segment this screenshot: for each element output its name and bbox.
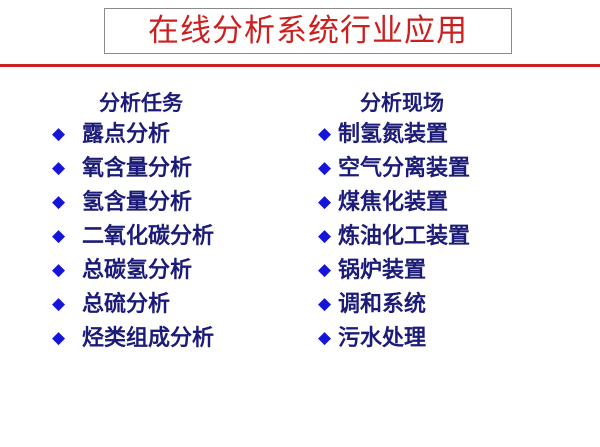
diamond-bullet-icon: ◆ [52,296,82,313]
list-item-label: 氢含量分析 [82,192,192,214]
list-item-label: 炼油化工装置 [338,226,470,248]
list-item-label: 空气分离装置 [338,158,470,180]
list-item[interactable]: ◆ 总碳氢分析 [52,254,302,288]
diamond-bullet-icon: ◆ [318,296,338,313]
diamond-bullet-icon: ◆ [52,194,82,211]
list-item[interactable]: ◆ 炼油化工装置 [318,220,578,254]
list-item-label: 污水处理 [338,328,426,350]
diamond-bullet-icon: ◆ [318,262,338,279]
diamond-bullet-icon: ◆ [318,194,338,211]
list-item[interactable]: ◆ 空气分离装置 [318,152,578,186]
list-item-label: 锅炉装置 [338,260,426,282]
list-item-label: 煤焦化装置 [338,192,448,214]
list-analysis-sites: ◆ 制氢氮装置 ◆ 空气分离装置 ◆ 煤焦化装置 ◆ 炼油化工装置 ◆ 锅炉 [318,118,578,356]
list-item-label: 二氧化碳分析 [82,226,214,248]
slide-canvas: 在线分析系统行业应用 分析任务 ◆ 露点分析 ◆ 氧含量分析 ◆ 氢含量分析 [0,0,600,447]
diamond-bullet-icon: ◆ [318,330,338,347]
diamond-bullet-icon: ◆ [318,228,338,245]
list-item[interactable]: ◆ 氧含量分析 [52,152,302,186]
list-analysis-tasks: ◆ 露点分析 ◆ 氧含量分析 ◆ 氢含量分析 ◆ 二氧化碳分析 ◆ 总碳氢分 [52,118,302,356]
column-analysis-sites: 分析现场 ◆ 制氢氮装置 ◆ 空气分离装置 ◆ 煤焦化装置 ◆ 炼油化工装置 [318,88,578,356]
list-item[interactable]: ◆ 总硫分析 [52,288,302,322]
diamond-bullet-icon: ◆ [318,160,338,177]
diamond-bullet-icon: ◆ [52,228,82,245]
list-item[interactable]: ◆ 烃类组成分析 [52,322,302,356]
list-item[interactable]: ◆ 污水处理 [318,322,578,356]
list-item-label: 制氢氮装置 [338,124,448,146]
column-header-right: 分析现场 [318,88,578,118]
diamond-bullet-icon: ◆ [52,160,82,177]
column-analysis-tasks: 分析任务 ◆ 露点分析 ◆ 氧含量分析 ◆ 氢含量分析 ◆ 二氧化碳分析 [52,88,302,356]
list-item-label: 露点分析 [82,124,170,146]
list-item-label: 调和系统 [338,294,426,316]
title-divider-rule [0,64,600,67]
title-box: 在线分析系统行业应用 [104,8,512,54]
diamond-bullet-icon: ◆ [52,126,82,143]
list-item[interactable]: ◆ 氢含量分析 [52,186,302,220]
list-item[interactable]: ◆ 露点分析 [52,118,302,152]
list-item[interactable]: ◆ 制氢氮装置 [318,118,578,152]
list-item-label: 总碳氢分析 [82,260,192,282]
list-item[interactable]: ◆ 二氧化碳分析 [52,220,302,254]
list-item-label: 氧含量分析 [82,158,192,180]
diamond-bullet-icon: ◆ [52,330,82,347]
list-item-label: 总硫分析 [82,294,170,316]
list-item[interactable]: ◆ 调和系统 [318,288,578,322]
diamond-bullet-icon: ◆ [52,262,82,279]
column-header-left: 分析任务 [52,88,302,118]
content-columns: 分析任务 ◆ 露点分析 ◆ 氧含量分析 ◆ 氢含量分析 ◆ 二氧化碳分析 [0,88,600,388]
list-item-label: 烃类组成分析 [82,328,214,350]
page-title: 在线分析系统行业应用 [148,16,468,47]
diamond-bullet-icon: ◆ [318,126,338,143]
list-item[interactable]: ◆ 锅炉装置 [318,254,578,288]
list-item[interactable]: ◆ 煤焦化装置 [318,186,578,220]
